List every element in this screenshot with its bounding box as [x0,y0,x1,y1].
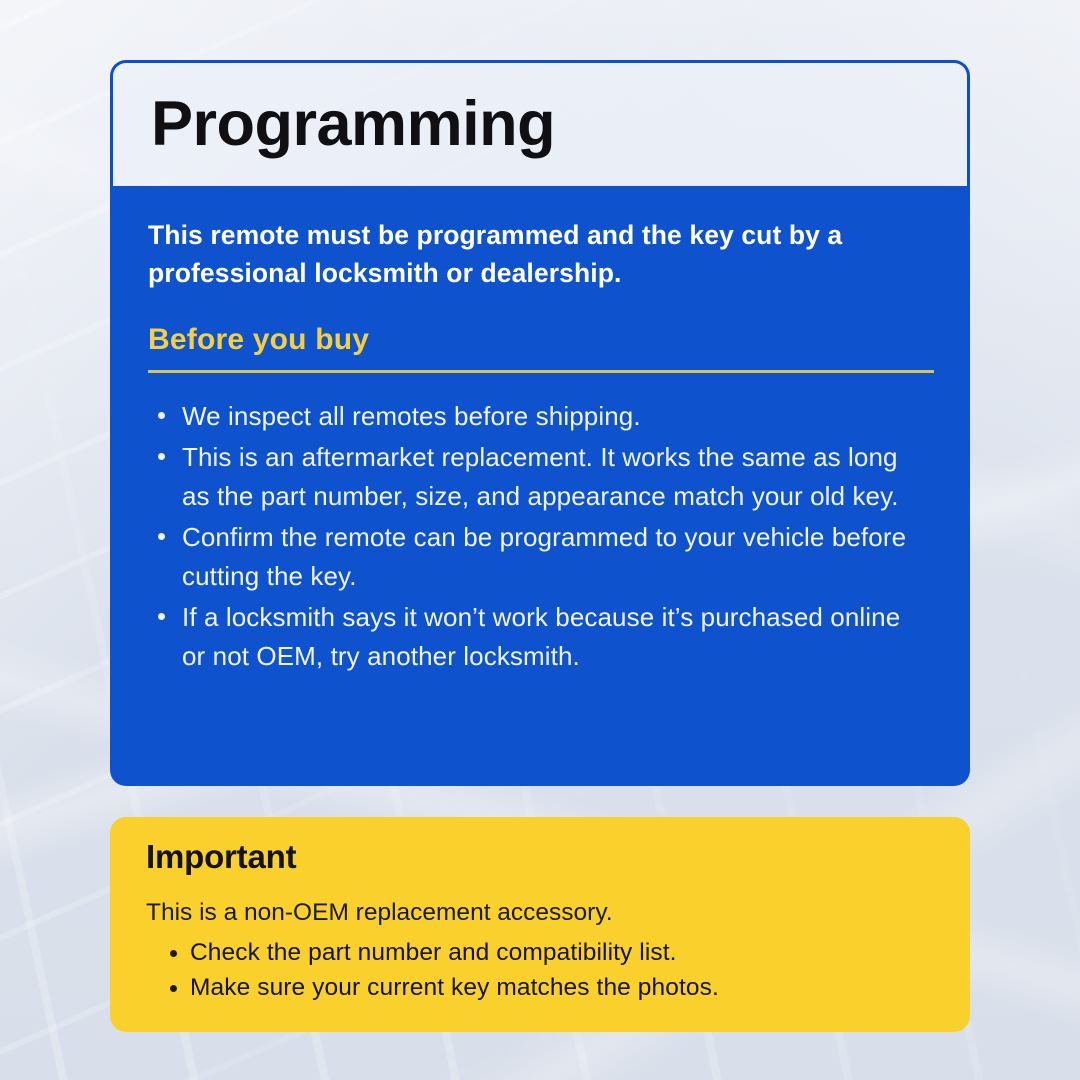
programming-card-body: This remote must be programmed and the k… [110,186,970,786]
list-item-label: This is an aftermarket replacement. It w… [182,442,899,511]
important-card: Important This is a non-OEM replacement … [110,817,970,1032]
important-lead-text: This is a non-OEM replacement accessory. [146,895,934,931]
before-you-buy-heading: Before you buy [148,323,934,356]
list-item: Confirm the remote can be programmed to … [148,518,922,596]
bullet-icon [158,453,165,460]
before-you-buy-list: We inspect all remotes before shipping. … [148,397,934,676]
list-item-label: Check the part number and compatibility … [190,939,677,966]
programming-card-header: Programming [110,60,970,186]
bullet-icon [158,533,165,540]
page-root: Programming This remote must be programm… [0,0,1080,1080]
list-item: If a locksmith says it won’t work becaus… [148,598,922,676]
list-item-label: Make sure your current key matches the p… [190,974,719,1001]
list-item: Make sure your current key matches the p… [146,970,934,1006]
section-divider [148,370,934,373]
bullet-icon [158,613,165,620]
bullet-icon [170,950,177,957]
important-heading: Important [146,839,934,875]
list-item: Check the part number and compatibility … [146,935,934,971]
bullet-icon [170,985,177,992]
programming-intro-text: This remote must be programmed and the k… [148,216,913,293]
list-item-label: If a locksmith says it won’t work becaus… [182,602,900,671]
page-title: Programming [151,93,555,156]
bullet-icon [158,412,165,419]
list-item-label: We inspect all remotes before shipping. [182,401,641,431]
list-item: We inspect all remotes before shipping. [148,397,922,436]
list-item-label: Confirm the remote can be programmed to … [182,522,906,591]
programming-card: Programming This remote must be programm… [110,60,970,786]
important-list: Check the part number and compatibility … [146,935,934,1006]
list-item: This is an aftermarket replacement. It w… [148,438,922,516]
